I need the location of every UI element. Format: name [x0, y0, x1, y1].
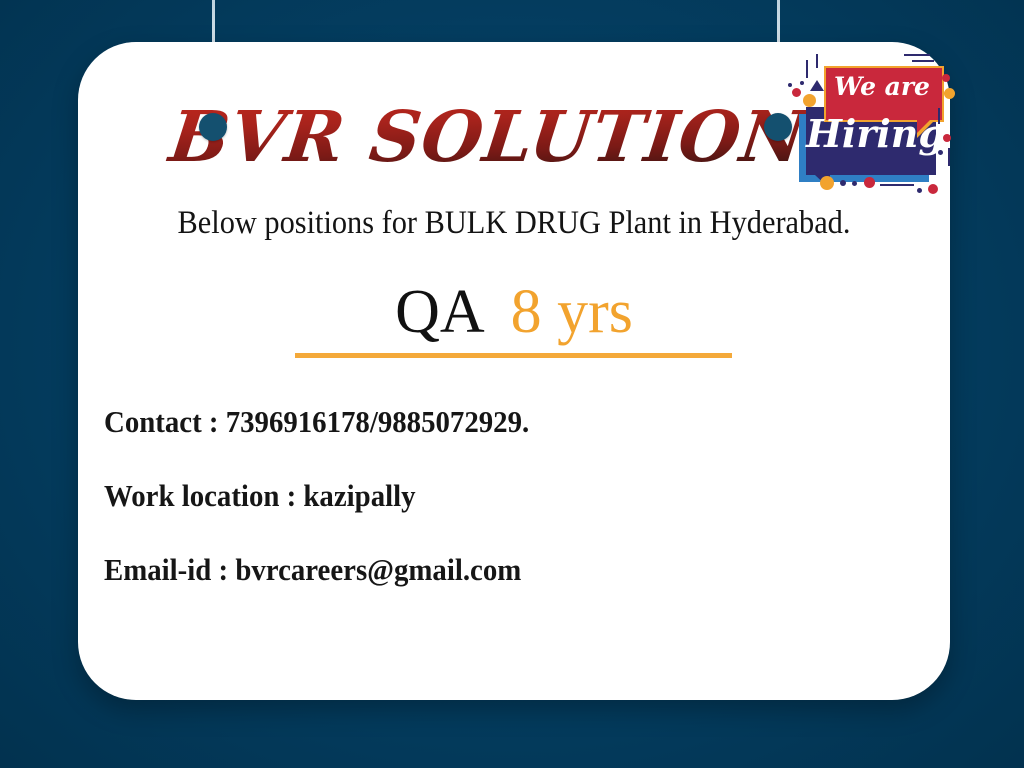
decor-tick-2	[816, 54, 818, 68]
decor-dot-orange-1	[803, 94, 816, 107]
decor-dot-red-2	[942, 74, 950, 82]
decor-line-1	[904, 54, 930, 56]
decor-tick-1	[806, 60, 808, 78]
pin-left	[199, 113, 227, 141]
decor-dot-red-3	[943, 134, 951, 142]
decor-dot-navy-2	[800, 81, 804, 85]
work-location-line: Work location : kazipally	[104, 478, 867, 514]
role-name: QA	[395, 278, 485, 346]
decor-dot-red-1	[792, 88, 801, 97]
email-line: Email-id : bvrcareers@gmail.com	[104, 552, 867, 588]
decor-dot-navy-5	[852, 181, 857, 186]
decor-dot-red-4	[864, 177, 875, 188]
decor-triangle	[810, 80, 824, 91]
decor-dot-orange-3	[820, 176, 834, 190]
decor-line-3	[880, 184, 914, 186]
contact-line: Contact : 7396916178/9885072929.	[104, 404, 867, 440]
badge-line-we-are: We are	[824, 72, 940, 101]
decor-line-2	[912, 60, 934, 62]
decor-tick-4	[948, 148, 950, 166]
role-experience: 8 yrs	[511, 278, 633, 346]
decor-tick-3	[938, 108, 940, 124]
decor-dot-navy-3	[938, 150, 943, 155]
job-posting-poster: BVR SOLUTIONS Below positions for BULK D…	[0, 0, 1024, 768]
decor-dot-orange-2	[944, 88, 955, 99]
decor-dot-red-5	[928, 184, 938, 194]
badge-line-hiring: Hiring	[806, 111, 936, 156]
decor-dot-navy-6	[917, 188, 922, 193]
contact-details-list: Contact : 7396916178/9885072929. Work lo…	[104, 404, 924, 626]
we-are-hiring-badge: We are Hiring	[786, 50, 956, 202]
role-underline	[295, 353, 732, 358]
intro-text: Below positions for BULK DRUG Plant in H…	[113, 205, 915, 242]
role-row: QA8 yrs	[78, 277, 950, 348]
decor-dot-navy-4	[840, 180, 846, 186]
decor-dot-navy-1	[788, 83, 792, 87]
